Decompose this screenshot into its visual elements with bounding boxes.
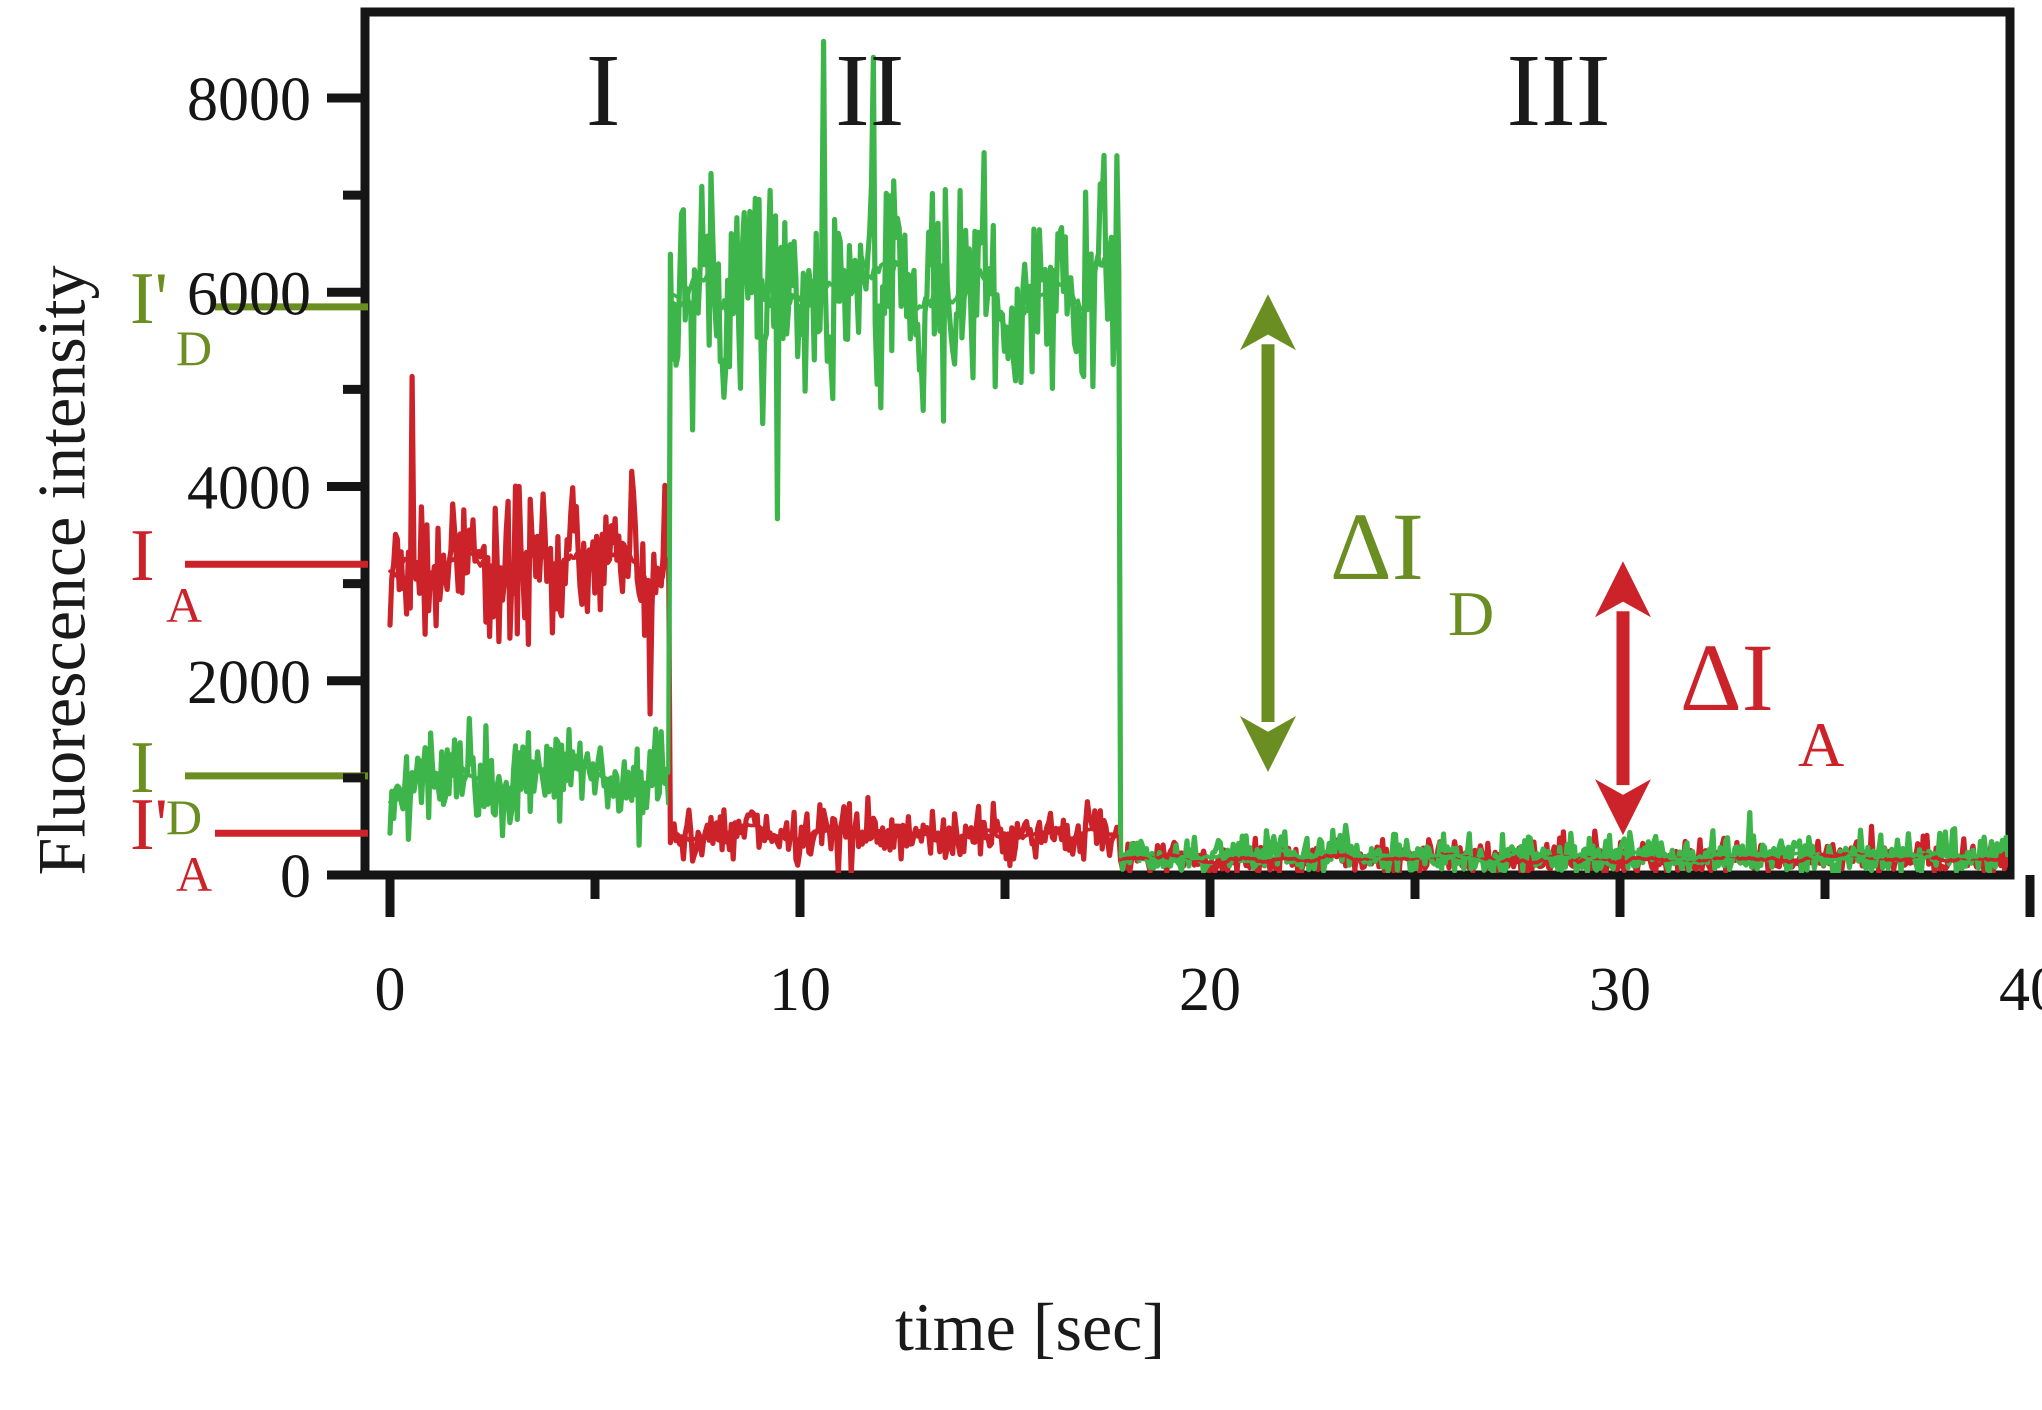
x-tick-label: 20 — [1179, 956, 1241, 1024]
x-tick-label: 10 — [769, 956, 831, 1024]
phase-numeral: I — [586, 33, 621, 148]
y-tick-label: 8000 — [187, 66, 311, 134]
svg-text:D: D — [1448, 578, 1494, 649]
trace-layer — [390, 41, 2028, 875]
x-tick-label: 40 — [1999, 956, 2042, 1024]
phase-numeral: II — [835, 33, 904, 148]
phase-numeral: III — [1507, 33, 1611, 148]
acceptor-smoothed-trace — [390, 543, 2028, 864]
donor-raw-trace — [390, 41, 2028, 872]
fret-trace-plot: 02000400060008000010203040 IIIIII I'DIAI… — [0, 0, 2042, 1410]
svg-text:I': I' — [130, 784, 168, 866]
svg-text:ΔI: ΔI — [1330, 493, 1424, 600]
level-marker-lines — [185, 307, 368, 833]
svg-text:D: D — [166, 789, 202, 845]
delta-IA-arrow — [1595, 561, 1651, 835]
figure-canvas: Fluorescence intensity time [sec] 020004… — [0, 0, 2042, 1410]
y-tick-label: 0 — [280, 843, 311, 911]
svg-text:I': I' — [130, 258, 168, 340]
y-tick-label: 4000 — [187, 455, 311, 523]
level-marker-labels: I'DIAIDI'A — [130, 258, 212, 902]
delta-ID-arrow — [1240, 294, 1296, 772]
x-tick-label: 0 — [375, 956, 406, 1024]
x-tick-label: 30 — [1589, 956, 1651, 1024]
svg-text:ΔI: ΔI — [1680, 624, 1774, 731]
svg-text:D: D — [176, 320, 212, 376]
y-tick-label: 2000 — [187, 649, 311, 717]
svg-text:A: A — [166, 577, 202, 633]
delta-IA-label: ΔIA — [1680, 624, 1844, 780]
svg-text:A: A — [176, 846, 212, 902]
svg-text:I: I — [130, 515, 155, 597]
y-tick-label: 6000 — [187, 260, 311, 328]
phase-labels: IIIIII — [586, 33, 1611, 148]
delta-annotations: ΔIDΔIA — [1240, 294, 1844, 835]
delta-ID-label: ΔID — [1330, 493, 1494, 649]
level-marker-label: IA — [130, 515, 202, 633]
svg-text:A: A — [1798, 709, 1844, 780]
